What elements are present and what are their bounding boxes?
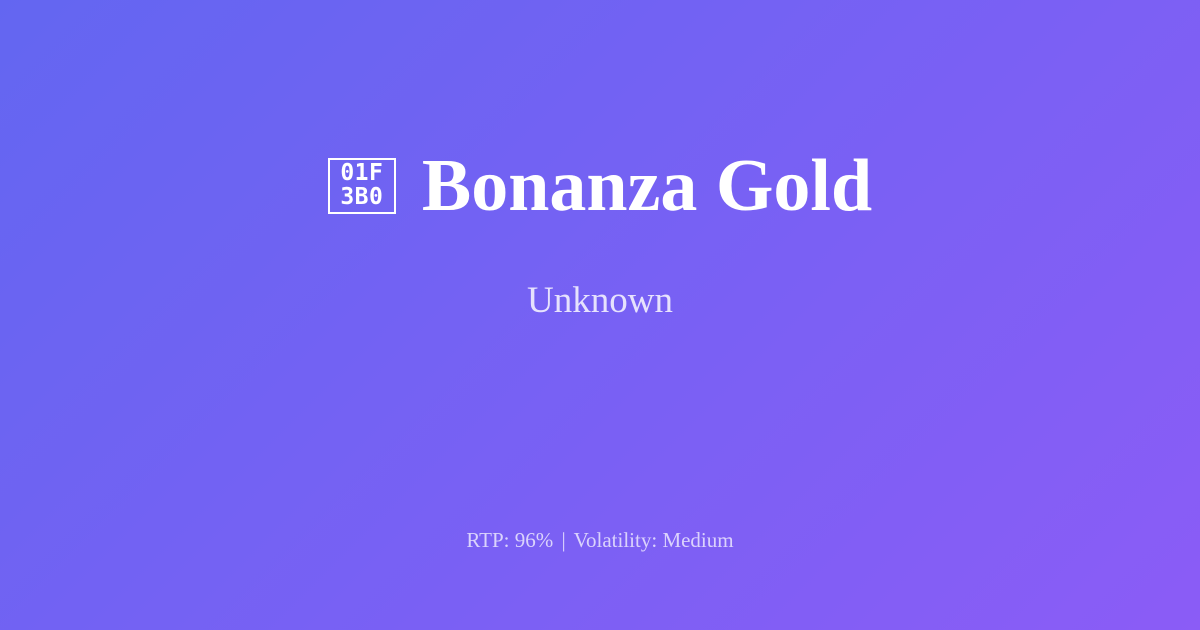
volatility-value: Medium [662, 528, 733, 552]
meta-separator: | [558, 528, 568, 552]
tofu-codepoint-bottom: 3B0 [340, 186, 383, 209]
page-title: Bonanza Gold [422, 149, 872, 223]
tofu-codepoint-top: 01F [340, 162, 383, 185]
og-share-card: 01F 3B0 Bonanza Gold Unknown RTP: 96% | … [0, 0, 1200, 630]
card-footer-meta: RTP: 96% | Volatility: Medium [0, 528, 1200, 553]
title-row: 01F 3B0 Bonanza Gold [328, 149, 872, 223]
card-center-block: 01F 3B0 Bonanza Gold Unknown [0, 0, 1200, 470]
rtp-label: RTP: [466, 528, 509, 552]
card-subtitle: Unknown [527, 279, 673, 322]
slot-machine-icon: 01F 3B0 [328, 158, 396, 214]
volatility-label: Volatility: [574, 528, 658, 552]
rtp-value: 96% [515, 528, 554, 552]
